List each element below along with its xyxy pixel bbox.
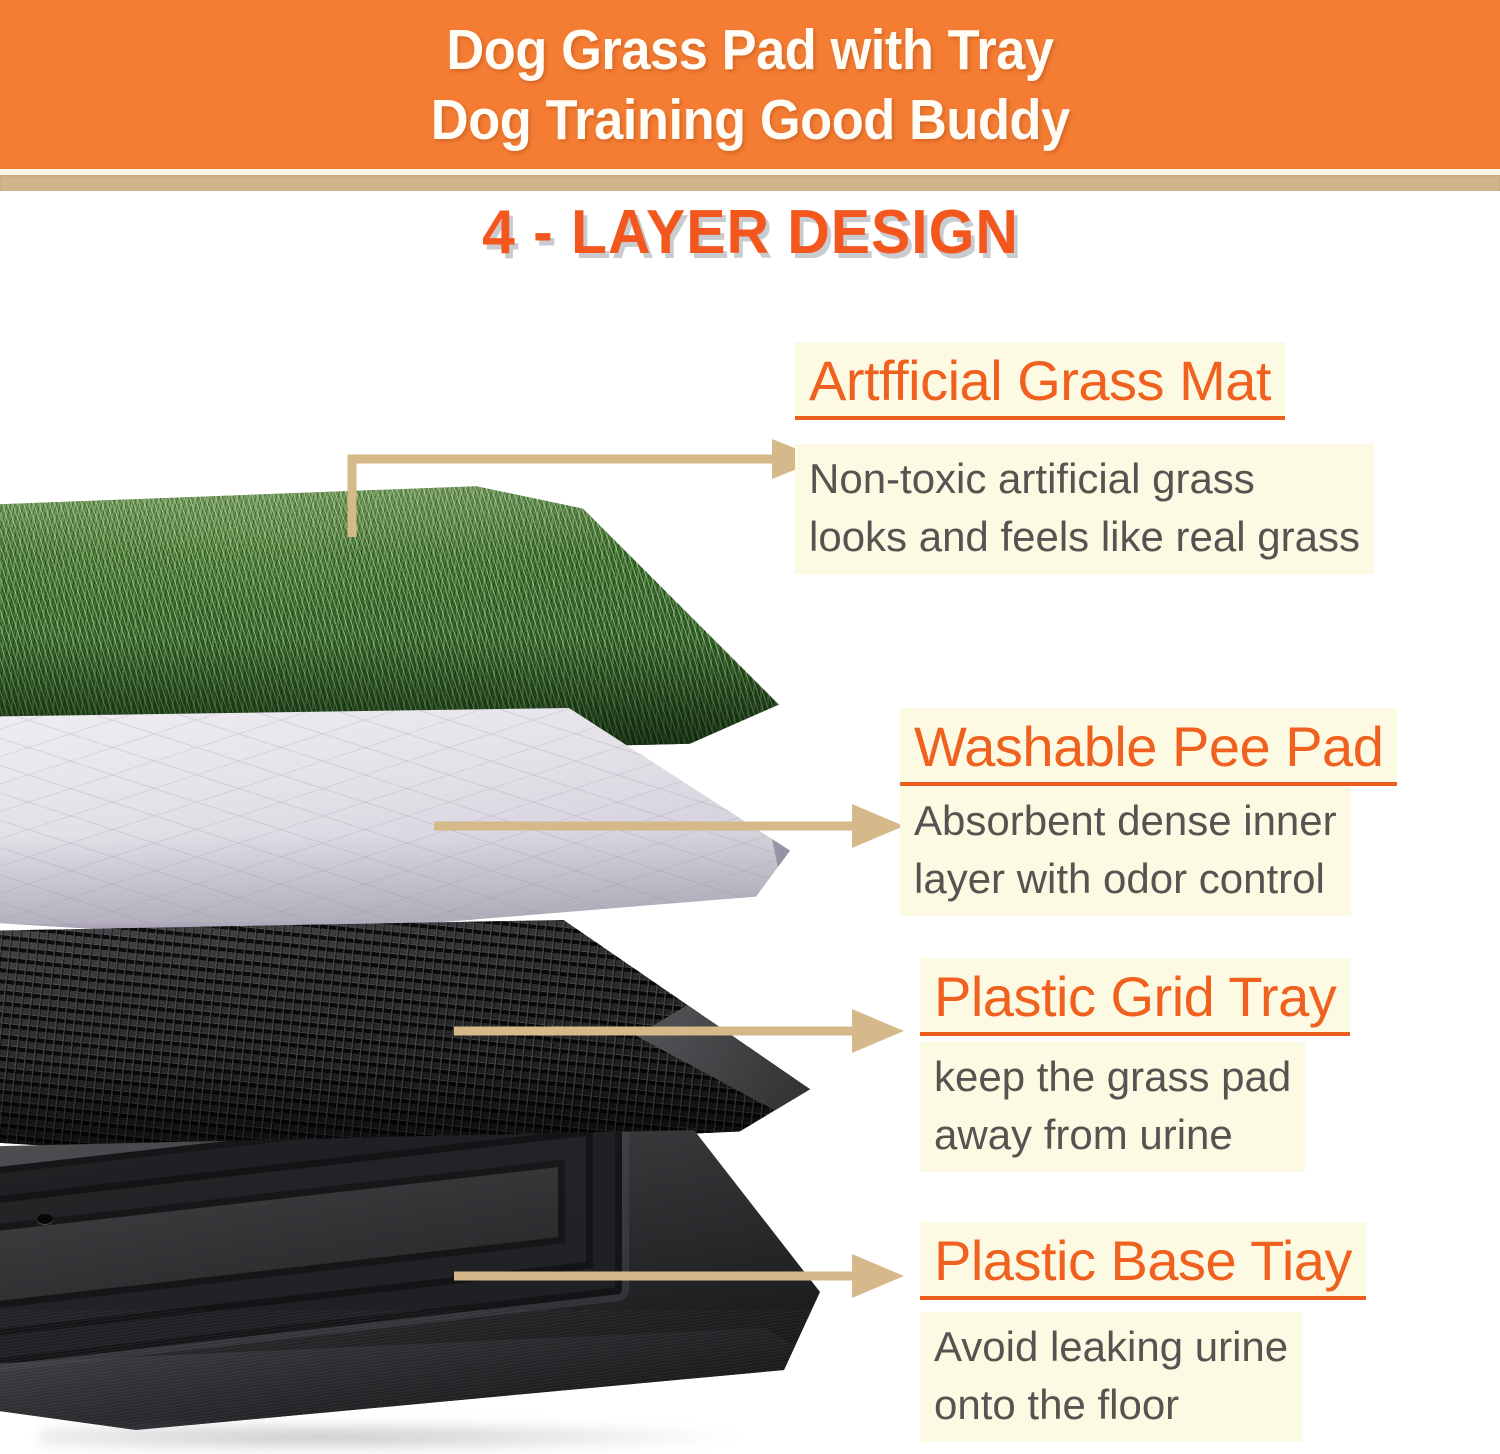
callout-body-line: onto the floor (934, 1376, 1288, 1434)
callout-arrow-plastic-base-tray (450, 1245, 910, 1307)
base-tray-drain-hole (37, 1214, 53, 1224)
header-title-line-1: Dog Grass Pad with Tray (446, 15, 1053, 85)
callout-body-artificial-grass-mat: Non-toxic artificial grass looks and fee… (795, 444, 1374, 574)
callout-plastic-base-tray: Plastic Base Tiay Avoid leaking urine on… (920, 1222, 1500, 1442)
callout-arrow-plastic-grid-tray (450, 1000, 910, 1062)
base-tray-rim-texture (0, 1310, 820, 1430)
callout-body-washable-pee-pad: Absorbent dense inner layer with odor co… (900, 786, 1351, 916)
callout-body-line: away from urine (934, 1106, 1291, 1164)
callout-body-plastic-base-tray: Avoid leaking urine onto the floor (920, 1312, 1302, 1442)
callout-body-line: looks and feels like real grass (809, 508, 1360, 566)
header-title-line-2: Dog Training Good Buddy (430, 85, 1069, 155)
callout-arrow-washable-pee-pad (430, 795, 910, 857)
callout-body-line: Absorbent dense inner (914, 792, 1337, 850)
callout-artificial-grass-mat: Artfficial Grass Mat Non-toxic artificia… (795, 342, 1500, 574)
callout-arrow-artificial-grass-mat (330, 415, 830, 545)
callout-title-plastic-grid-tray: Plastic Grid Tray (920, 958, 1350, 1036)
callout-body-line: layer with odor control (914, 850, 1337, 908)
callout-title-artificial-grass-mat: Artfficial Grass Mat (795, 342, 1285, 420)
subtitle-text: 4 - LAYER DESIGN (482, 196, 1019, 270)
callout-title-washable-pee-pad: Washable Pee Pad (900, 708, 1397, 786)
header-banner: Dog Grass Pad with Tray Dog Training Goo… (0, 0, 1500, 169)
callout-body-line: Avoid leaking urine (934, 1318, 1288, 1376)
header-divider-tan (0, 175, 1500, 191)
section-subtitle: 4 - LAYER DESIGN (0, 196, 1500, 270)
callout-washable-pee-pad: Washable Pee Pad Absorbent dense inner l… (900, 708, 1500, 916)
callout-body-plastic-grid-tray: keep the grass pad away from urine (920, 1042, 1305, 1172)
callout-body-line: keep the grass pad (934, 1048, 1291, 1106)
base-tray-drop-shadow (40, 1420, 740, 1454)
callout-title-plastic-base-tray: Plastic Base Tiay (920, 1222, 1366, 1300)
callout-plastic-grid-tray: Plastic Grid Tray keep the grass pad awa… (920, 958, 1500, 1172)
callout-body-line: Non-toxic artificial grass (809, 450, 1360, 508)
